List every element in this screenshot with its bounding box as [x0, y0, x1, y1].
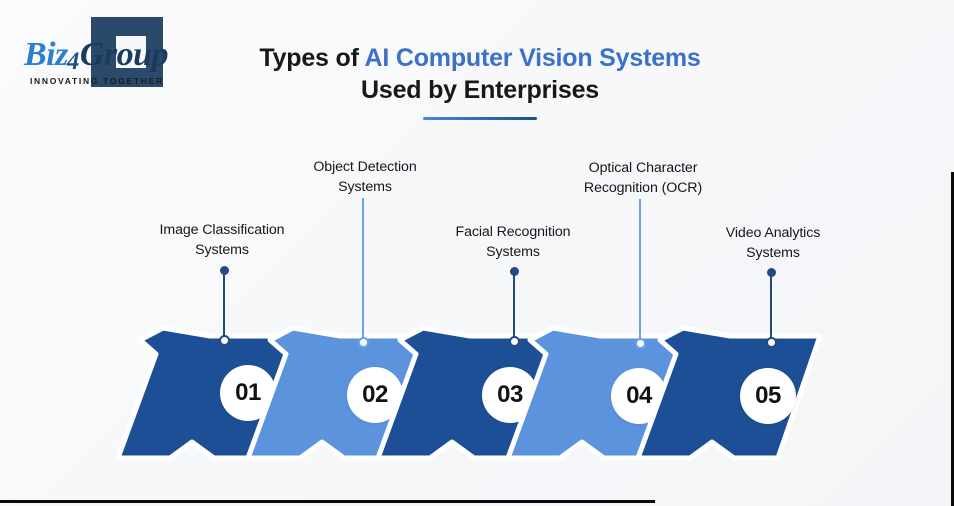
step-05[interactable]: 05Video AnalyticsSystems [0, 0, 954, 506]
step-label-line-2: Systems [696, 243, 850, 263]
step-label-line-1: Video Analytics [696, 223, 850, 243]
step-label: Video AnalyticsSystems [696, 223, 850, 263]
steps-stage: 01Image ClassificationSystems02Object De… [0, 0, 954, 506]
connector-line [770, 273, 772, 341]
connector-top-dot [767, 268, 776, 277]
infographic-canvas: Biz4Group INNOVATING TOGETHER Types of A… [0, 0, 954, 506]
frame-edge-bottom [0, 500, 655, 503]
connector-ring [766, 337, 777, 348]
step-number-badge[interactable]: 05 [740, 368, 796, 424]
